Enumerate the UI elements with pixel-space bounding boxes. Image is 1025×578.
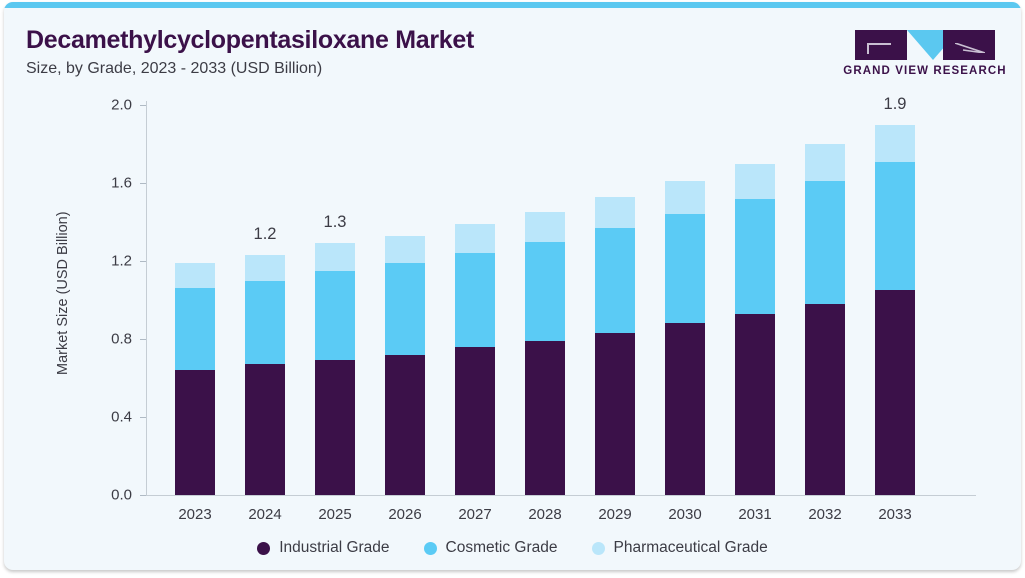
y-axis-tick-label: 0.8 xyxy=(88,331,132,348)
bar-segment[interactable] xyxy=(525,212,565,241)
y-axis-tick-mark xyxy=(140,105,146,106)
bar-segment[interactable] xyxy=(875,290,915,495)
plot-area: Market Size (USD Billion) 0.00.40.81.21.… xyxy=(4,2,1021,570)
bar-segment[interactable] xyxy=(805,304,845,495)
y-axis-tick-mark xyxy=(140,495,146,496)
bar-segment[interactable] xyxy=(385,236,425,263)
y-axis-tick-mark xyxy=(140,183,146,184)
legend-label: Industrial Grade xyxy=(279,539,389,557)
bar-stack[interactable] xyxy=(455,224,495,495)
bar-segment[interactable] xyxy=(875,125,915,162)
bar-segment[interactable] xyxy=(735,164,775,199)
y-axis-line xyxy=(146,101,147,495)
x-axis-tick-label: 2027 xyxy=(440,506,510,523)
legend-item[interactable]: Cosmetic Grade xyxy=(424,539,558,557)
bar-segment[interactable] xyxy=(315,271,355,361)
bar-segment[interactable] xyxy=(665,214,705,323)
bar-segment[interactable] xyxy=(735,314,775,495)
x-axis-tick-label: 2031 xyxy=(720,506,790,523)
legend-item[interactable]: Industrial Grade xyxy=(257,539,389,557)
bar-segment[interactable] xyxy=(805,144,845,181)
x-axis-tick-label: 2030 xyxy=(650,506,720,523)
x-axis-tick-label: 2029 xyxy=(580,506,650,523)
bar-segment[interactable] xyxy=(175,370,215,495)
bar-stack[interactable] xyxy=(245,255,285,495)
bar-stack[interactable] xyxy=(385,236,425,495)
bar-value-label: 1.2 xyxy=(230,225,300,244)
bar-segment[interactable] xyxy=(665,323,705,495)
bar-segment[interactable] xyxy=(805,181,845,304)
bar-segment[interactable] xyxy=(595,228,635,333)
x-axis-tick-label: 2032 xyxy=(790,506,860,523)
legend-swatch-icon xyxy=(592,542,605,555)
x-axis-tick-label: 2033 xyxy=(860,506,930,523)
bar-segment[interactable] xyxy=(595,197,635,228)
bar-segment[interactable] xyxy=(525,242,565,341)
y-axis-tick-label: 0.0 xyxy=(88,487,132,504)
y-axis-tick-label: 2.0 xyxy=(88,97,132,114)
legend-item[interactable]: Pharmaceutical Grade xyxy=(592,539,768,557)
bar-stack[interactable] xyxy=(875,125,915,495)
y-axis-title: Market Size (USD Billion) xyxy=(55,215,71,375)
bar-stack[interactable] xyxy=(595,197,635,495)
x-axis-tick-label: 2025 xyxy=(300,506,370,523)
bar-segment[interactable] xyxy=(245,364,285,495)
bar-segment[interactable] xyxy=(175,263,215,288)
y-axis-tick-label: 1.2 xyxy=(88,253,132,270)
y-axis-tick-label: 0.4 xyxy=(88,409,132,426)
y-axis-tick-mark xyxy=(140,417,146,418)
bar-segment[interactable] xyxy=(525,341,565,495)
bar-segment[interactable] xyxy=(245,281,285,365)
bar-value-label: 1.9 xyxy=(860,95,930,114)
bar-stack[interactable] xyxy=(525,212,565,495)
bar-segment[interactable] xyxy=(315,243,355,270)
bar-stack[interactable] xyxy=(735,164,775,495)
y-axis-tick-mark xyxy=(140,339,146,340)
legend-label: Pharmaceutical Grade xyxy=(614,539,768,557)
bar-stack[interactable] xyxy=(805,144,845,495)
bar-segment[interactable] xyxy=(175,288,215,370)
bar-stack[interactable] xyxy=(175,263,215,495)
bar-segment[interactable] xyxy=(315,360,355,495)
bar-stack[interactable] xyxy=(315,243,355,495)
legend-swatch-icon xyxy=(257,542,270,555)
y-axis-tick-label: 1.6 xyxy=(88,175,132,192)
bar-segment[interactable] xyxy=(455,224,495,253)
legend-swatch-icon xyxy=(424,542,437,555)
bar-segment[interactable] xyxy=(735,199,775,314)
bar-segment[interactable] xyxy=(595,333,635,495)
y-axis-tick-mark xyxy=(140,261,146,262)
legend-label: Cosmetic Grade xyxy=(446,539,558,557)
bar-segment[interactable] xyxy=(385,355,425,495)
chart-legend: Industrial GradeCosmetic GradePharmaceut… xyxy=(4,539,1021,557)
bar-segment[interactable] xyxy=(875,162,915,291)
bar-segment[interactable] xyxy=(245,255,285,280)
x-axis-line xyxy=(146,495,976,496)
bar-segment[interactable] xyxy=(665,181,705,214)
x-axis-tick-label: 2026 xyxy=(370,506,440,523)
bar-segment[interactable] xyxy=(455,347,495,495)
bar-stack[interactable] xyxy=(665,181,705,495)
bar-segment[interactable] xyxy=(455,253,495,347)
x-axis-tick-label: 2023 xyxy=(160,506,230,523)
x-axis-tick-label: 2024 xyxy=(230,506,300,523)
bar-segment[interactable] xyxy=(385,263,425,355)
x-axis-tick-label: 2028 xyxy=(510,506,580,523)
bar-value-label: 1.3 xyxy=(300,213,370,232)
chart-card: Decamethylcyclopentasiloxane Market Size… xyxy=(4,2,1021,570)
